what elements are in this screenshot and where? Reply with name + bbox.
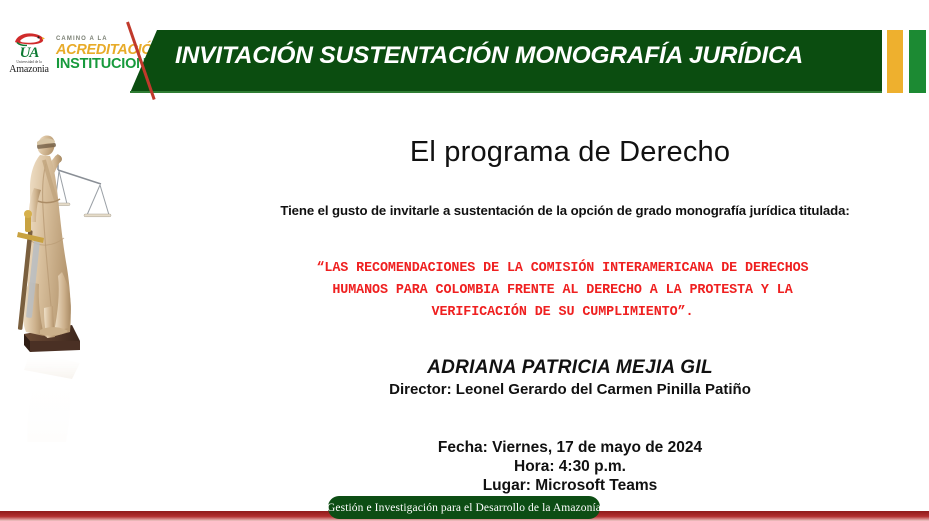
- banner-title: INVITACIÓN SUSTENTACIÓN MONOGRAFÍA JURÍD…: [175, 42, 865, 70]
- program-title: El programa de Derecho: [230, 136, 910, 169]
- thesis-title-line: VERIFICACIÓN DE SU CUMPLIMIENTO”.: [205, 302, 920, 324]
- green-accent-bar: [909, 30, 926, 93]
- header-banner-underline: [130, 91, 882, 93]
- invitation-poster: UA Universidad de la Amazonia CAMINO A L…: [0, 0, 929, 521]
- footer-slogan-pill: Gestión e Investigación para el Desarrol…: [328, 496, 600, 519]
- lady-justice-statue-image: [10, 112, 130, 442]
- author-name: ADRIANA PATRICIA MEJIA GIL: [230, 357, 910, 379]
- thesis-title-line: HUMANOS PARA COLOMBIA FRENTE AL DERECHO …: [205, 280, 920, 302]
- event-time: Hora: 4:30 p.m.: [230, 457, 910, 476]
- thesis-title-line: “LAS RECOMENDACIONES DE LA COMISIÓN INTE…: [205, 258, 920, 280]
- university-shield-icon: UA Universidad de la Amazonia: [8, 32, 50, 78]
- event-date: Fecha: Viernes, 17 de mayo de 2024: [230, 438, 910, 457]
- director-name: Director: Leonel Gerardo del Carmen Pini…: [230, 381, 910, 398]
- event-details: Fecha: Viernes, 17 de mayo de 2024 Hora:…: [230, 438, 910, 495]
- shield-monogram: UA: [20, 47, 39, 60]
- footer-slogan: Gestión e Investigación para el Desarrol…: [327, 502, 601, 514]
- invitation-line: Tiene el gusto de invitarle a sustentaci…: [215, 203, 915, 218]
- event-location: Lugar: Microsoft Teams: [230, 476, 910, 495]
- gold-accent-bar: [887, 30, 903, 93]
- poster-header: UA Universidad de la Amazonia CAMINO A L…: [0, 0, 929, 100]
- shield-university-line2: Amazonia: [9, 65, 49, 75]
- macaw-bird-icon: [13, 32, 45, 47]
- thesis-title: “LAS RECOMENDACIONES DE LA COMISIÓN INTE…: [205, 258, 920, 324]
